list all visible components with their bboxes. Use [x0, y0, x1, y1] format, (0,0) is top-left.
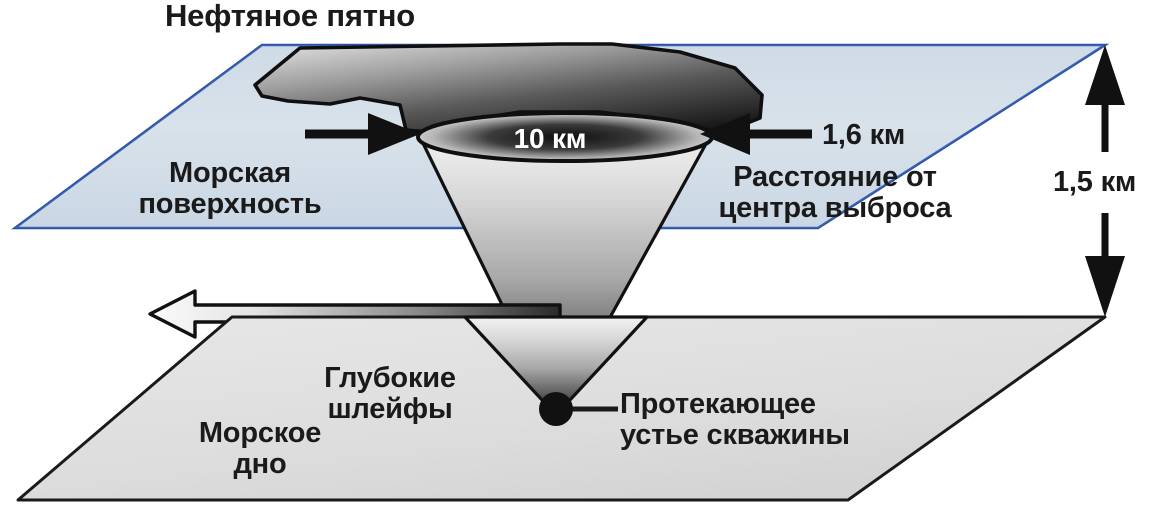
label-slick-diameter: 10 км	[460, 124, 640, 154]
label-distance-description: Расстояние от центра выброса	[700, 162, 970, 223]
depth-arrow-down-head	[1085, 256, 1125, 317]
label-depth-value: 1,5 км	[1053, 167, 1136, 198]
label-seabed: Морское дно	[165, 418, 355, 479]
diagram-canvas: Нефтяное пятно Морская поверхность 1,6 к…	[0, 0, 1160, 521]
label-oil-slick: Нефтяное пятно	[0, 0, 580, 33]
label-sea-surface: Морская поверхность	[80, 158, 380, 219]
label-deep-plumes: Глубокие шлейфы	[290, 363, 490, 424]
label-leaking-wellhead: Протекающее устье скважины	[620, 389, 920, 450]
wellhead-dot-icon	[539, 392, 573, 426]
label-distance-value: 1,6 км	[822, 120, 905, 151]
